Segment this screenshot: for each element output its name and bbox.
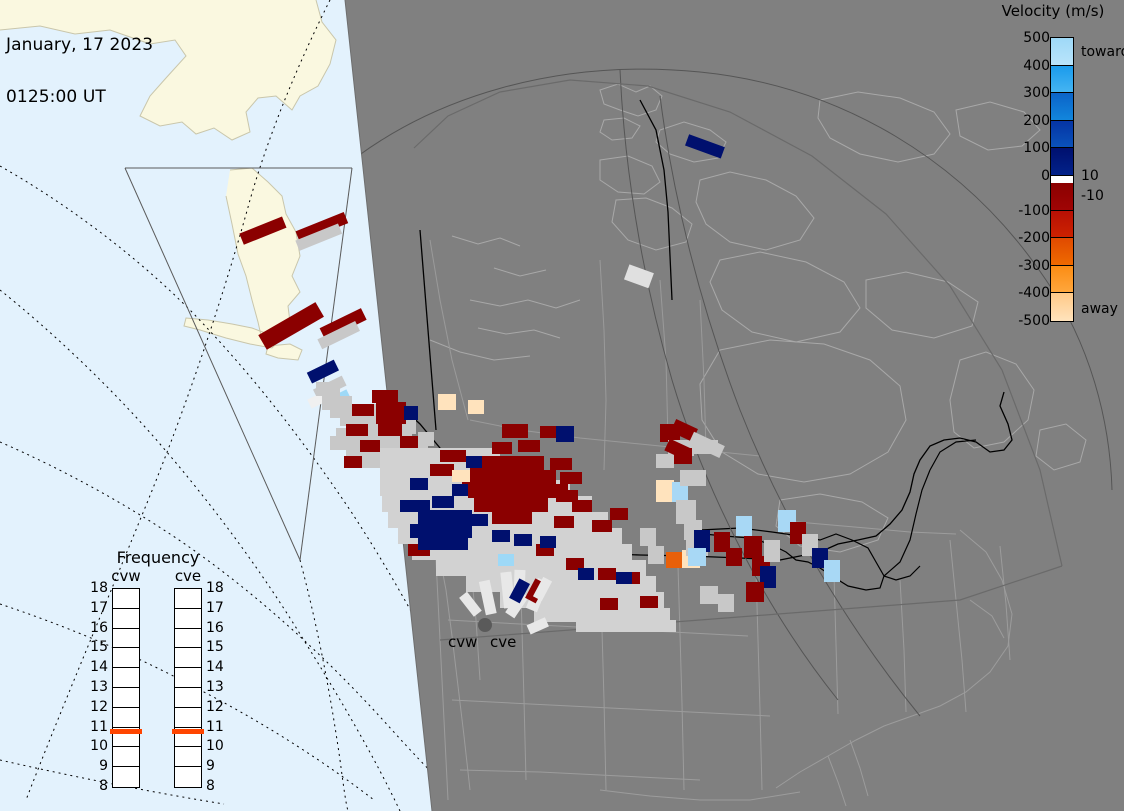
velocity-tick-400: 400 [1002,58,1050,74]
frequency-tick-cvw-9: 9 [88,758,108,774]
velocity-band-300-to-400 [1051,66,1073,94]
velocity-inner-label-negative: -10 [1081,188,1104,204]
velocity-band--400-to--300 [1051,266,1073,294]
frequency-tick-cve-9: 9 [206,758,215,774]
velocity-band-10-to-100 [1051,148,1073,176]
frequency-tick-cvw-12: 12 [88,699,108,715]
frequency-tick-cve-17: 17 [206,600,224,616]
plot-date: January, 17 2023 [6,37,153,54]
frequency-cell [175,688,201,708]
frequency-legend: Frequency cvw cve 1818171716161515141413… [88,548,228,798]
frequency-tick-cvw-14: 14 [88,659,108,675]
frequency-cell [113,648,139,668]
plot-time: 0125:00 UT [6,89,153,106]
frequency-cell [175,747,201,767]
frequency-cell [175,767,201,787]
radar-site-marker [478,618,492,632]
frequency-cell [113,589,139,609]
frequency-tick-cve-10: 10 [206,738,224,754]
velocity-band--300-to--200 [1051,238,1073,266]
frequency-tick-cve-12: 12 [206,699,224,715]
frequency-cell [113,609,139,629]
velocity-tick-200: 200 [1002,113,1050,129]
timestamp-block: January, 17 2023 0125:00 UT [6,2,153,141]
frequency-scale-cve [174,588,202,788]
velocity-band-200-to-300 [1051,93,1073,121]
frequency-tick-cvw-13: 13 [88,679,108,695]
frequency-cell [175,609,201,629]
velocity-colorbar-title: Velocity (m/s) [983,2,1123,20]
velocity-direction-away: away [1081,301,1118,317]
frequency-cell [175,648,201,668]
frequency-cell [175,668,201,688]
frequency-cell [175,629,201,649]
site-label-cve: cve [490,633,516,651]
velocity-colorbar: Velocity (m/s) 5004003002001000-100-200-… [975,0,1124,340]
frequency-cell [113,668,139,688]
velocity-band-100-to-200 [1051,121,1073,149]
frequency-tick-cve-11: 11 [206,719,224,735]
frequency-tick-cvw-16: 16 [88,620,108,636]
frequency-tick-cve-14: 14 [206,659,224,675]
velocity-band-400-to-500 [1051,38,1073,66]
frequency-scale-cvw [112,588,140,788]
frequency-cell [113,688,139,708]
frequency-column-label-cve: cve [168,567,208,585]
frequency-cell [175,589,201,609]
velocity-tick--400: -400 [1002,285,1050,301]
frequency-tick-cvw-8: 8 [88,778,108,794]
velocity-band--100-to--10 [1051,183,1073,211]
velocity-band--500-to--400 [1051,293,1073,321]
velocity-tick--500: -500 [1002,313,1050,329]
frequency-tick-cve-15: 15 [206,639,224,655]
frequency-tick-cvw-10: 10 [88,738,108,754]
velocity-tick-500: 500 [1002,30,1050,46]
frequency-column-label-cvw: cvw [106,567,146,585]
site-label-cvw: cvw [448,633,477,651]
velocity-direction-toward: toward [1081,44,1124,60]
frequency-cell [113,767,139,787]
velocity-tick--200: -200 [1002,230,1050,246]
frequency-tick-cve-8: 8 [206,778,215,794]
frequency-cell [113,708,139,728]
frequency-tick-cve-13: 13 [206,679,224,695]
frequency-cell [113,747,139,767]
velocity-colorbar-scale [1050,37,1074,322]
velocity-band--200-to--100 [1051,211,1073,239]
frequency-tick-cvw-18: 18 [88,580,108,596]
velocity-tick-300: 300 [1002,85,1050,101]
frequency-marker-cve [172,729,204,734]
velocity-tick--100: -100 [1002,203,1050,219]
frequency-legend-title: Frequency [88,548,228,567]
frequency-tick-cve-18: 18 [206,580,224,596]
velocity-inner-label-positive: 10 [1081,168,1099,184]
velocity-colorbar-zero-gap [1051,176,1073,183]
velocity-tick--300: -300 [1002,258,1050,274]
frequency-tick-cvw-15: 15 [88,639,108,655]
frequency-cell [113,629,139,649]
frequency-marker-cvw [110,729,142,734]
frequency-cell [175,708,201,728]
velocity-tick-100: 100 [1002,140,1050,156]
frequency-tick-cvw-17: 17 [88,600,108,616]
velocity-tick-0: 0 [1002,168,1050,184]
frequency-tick-cve-16: 16 [206,620,224,636]
frequency-tick-cvw-11: 11 [88,719,108,735]
superdarn-fan-plot: January, 17 2023 0125:00 UT Velocity (m/… [0,0,1124,811]
